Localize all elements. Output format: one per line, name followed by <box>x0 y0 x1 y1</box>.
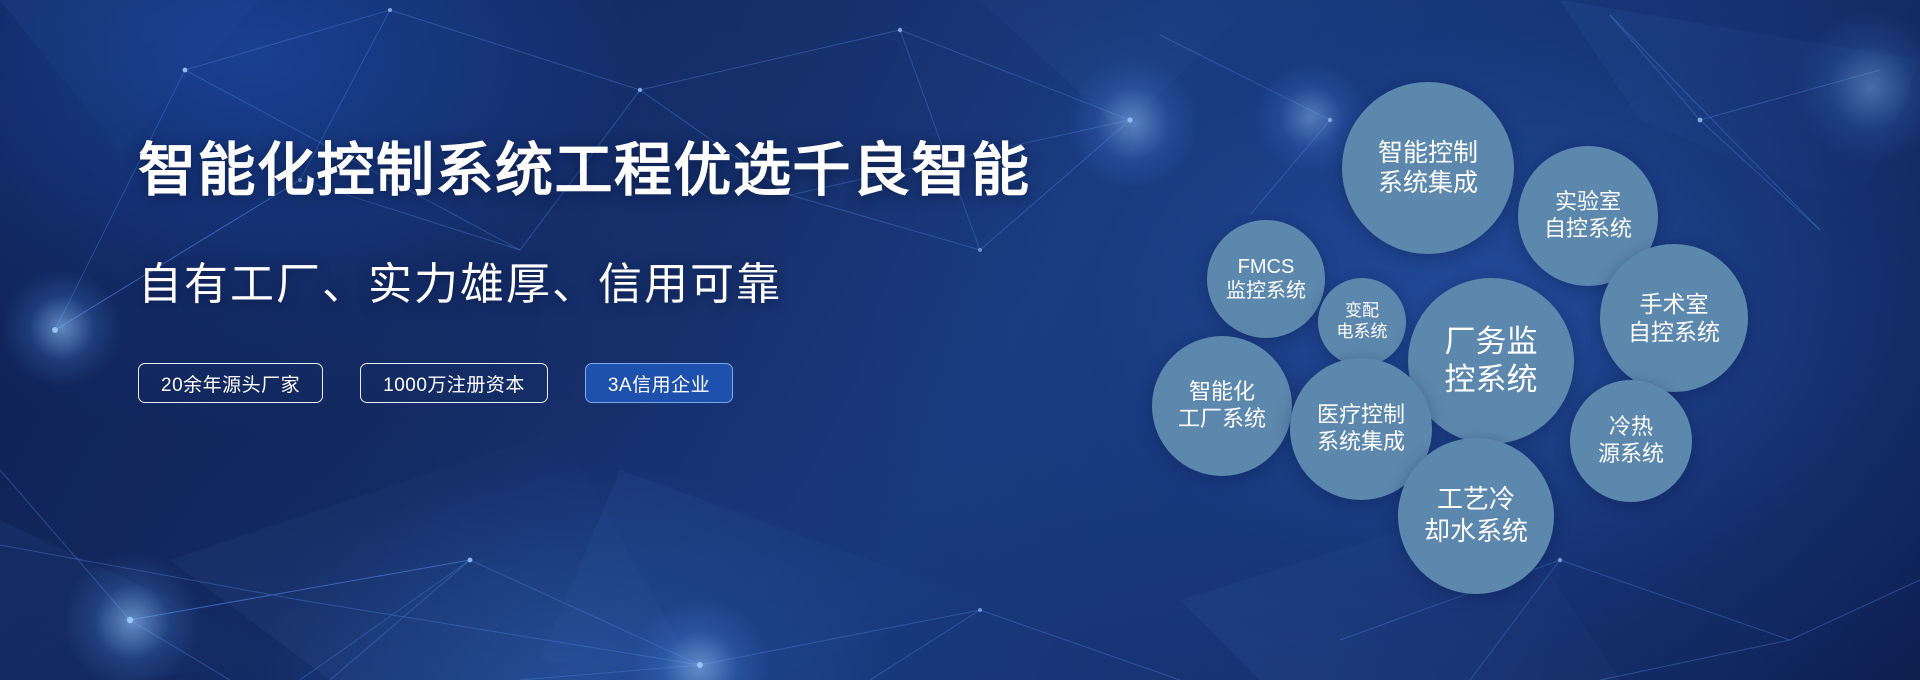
page-title: 智能化控制系统工程优选千良智能 <box>138 138 958 205</box>
badge-credit-rating[interactable]: 3A信用企业 <box>585 363 733 403</box>
hero-subtitle: 自有工厂、实力雄厚、信用可靠 <box>138 259 958 312</box>
bubble-plant-affairs-monitoring-system[interactable]: 厂务监控系统 <box>1408 278 1574 444</box>
bubble-process-cooling-water-system[interactable]: 工艺冷却水系统 <box>1398 438 1554 594</box>
bubble-fmcs-monitoring-system[interactable]: FMCS监控系统 <box>1207 220 1325 338</box>
bubble-label: 工艺冷却水系统 <box>1420 484 1532 547</box>
hero-copy: 智能化控制系统工程优选千良智能 自有工厂、实力雄厚、信用可靠 20余年源头厂家 … <box>138 138 958 403</box>
bubble-operating-room-automatic-control-system[interactable]: 手术室自控系统 <box>1600 244 1748 392</box>
bubble-label: 厂务监控系统 <box>1441 323 1542 399</box>
bubble-label: 智能控制系统集成 <box>1374 138 1482 199</box>
bubble-label: 变配电系统 <box>1333 301 1392 342</box>
badge-years-factory[interactable]: 20余年源头厂家 <box>138 363 323 403</box>
badge-list: 20余年源头厂家 1000万注册资本 3A信用企业 <box>138 363 958 403</box>
badge-registered-capital[interactable]: 1000万注册资本 <box>360 363 548 403</box>
bubble-label: 实验室自控系统 <box>1540 189 1636 243</box>
bubble-label: 手术室自控系统 <box>1624 290 1724 346</box>
hero-banner: 智能化控制系统工程优选千良智能 自有工厂、实力雄厚、信用可靠 20余年源头厂家 … <box>0 0 1920 680</box>
bubble-power-distribution-system[interactable]: 变配电系统 <box>1318 278 1406 366</box>
service-bubble-cluster: 智能控制系统集成实验室自控系统手术室自控系统FMCS监控系统变配电系统厂务监控系… <box>1140 50 1840 660</box>
bubble-label: 医疗控制系统集成 <box>1313 402 1409 456</box>
bubble-cold-heat-source-system[interactable]: 冷热源系统 <box>1570 380 1692 502</box>
bubble-label: FMCS监控系统 <box>1222 255 1310 304</box>
bubble-label: 冷热源系统 <box>1594 414 1668 468</box>
bubble-intelligent-factory-system[interactable]: 智能化工厂系统 <box>1152 336 1292 476</box>
bubble-label: 智能化工厂系统 <box>1174 379 1270 433</box>
bubble-intelligent-control-system-integration[interactable]: 智能控制系统集成 <box>1342 82 1514 254</box>
